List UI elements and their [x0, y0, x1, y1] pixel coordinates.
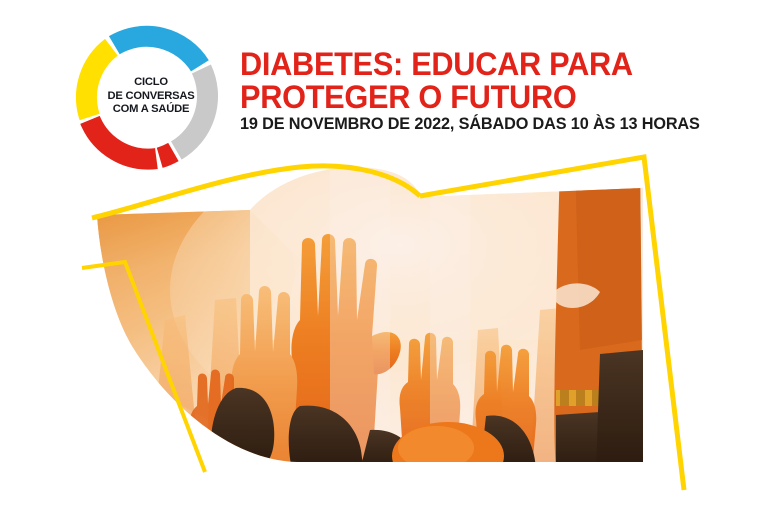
logo-yellow-arc — [86, 47, 111, 117]
event-dateline: 19 DE NOVEMBRO DE 2022, SÁBADO DAS 10 ÀS… — [240, 115, 700, 133]
logo-gray-arc — [176, 69, 207, 151]
artwork-graphic — [0, 140, 780, 520]
headline-line-1: DIABETES: EDUCAR PARA — [240, 48, 739, 81]
artwork-area — [0, 140, 780, 520]
headline-line-2: PROTEGER O FUTURO — [240, 81, 739, 114]
poster-canvas: CICLO DE CONVERSAS COM A SAÚDE DIABETES:… — [0, 0, 780, 520]
logo-cyan-arc — [114, 36, 200, 65]
page-title: DIABETES: EDUCAR PARA PROTEGER O FUTURO — [240, 48, 760, 114]
